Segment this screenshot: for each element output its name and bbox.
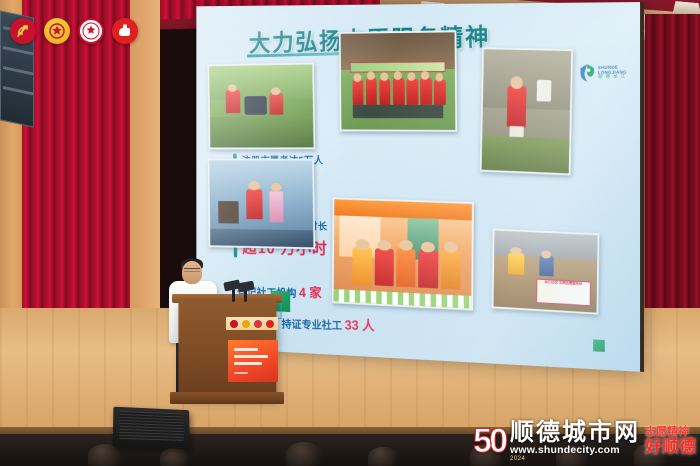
watermark-year: 2024 xyxy=(510,456,640,462)
presenter-glasses xyxy=(184,268,200,272)
hammer-sickle-icon xyxy=(14,22,32,40)
podium-seal-emblem xyxy=(254,320,262,328)
wall-emblem-group xyxy=(10,18,138,44)
photo-volunteer-outdoor-service: 龙江社区 文明志愿服务队 xyxy=(492,229,600,315)
photo-volunteer-booth-blue xyxy=(208,158,316,249)
watermark-badge: 志愿精神 好顺德 xyxy=(645,427,696,456)
podium-cpc-emblem xyxy=(230,320,238,328)
photo-volunteer-booth-orange xyxy=(332,197,474,310)
red-seal-emblem xyxy=(78,18,104,44)
inline-stat-value: 33 人 xyxy=(345,317,375,333)
watermark-url: www.shundecity.com xyxy=(510,445,640,456)
photo-volunteer-wall-painting xyxy=(480,47,573,175)
podium-emblem-strip xyxy=(226,317,278,330)
stage-presentation-photo: 大力弘扬志愿服务精神 SHUNDE LONGJIANG 顺 德 龙 江 志愿服务… xyxy=(0,0,700,466)
watermark: 50 顺德城市网 www.shundecity.com 2024 志愿精神 好顺… xyxy=(473,421,696,462)
podium-cyl-emblem xyxy=(242,320,250,328)
youth-league-star-icon xyxy=(48,22,66,40)
microphone-stem xyxy=(232,288,235,302)
seal-star-icon xyxy=(81,21,101,41)
photo-sign-text: 龙江社区 文明志愿服务队 xyxy=(538,279,590,287)
stage-monitor-speaker xyxy=(113,407,190,449)
shunde-longjiang-logo: SHUNDE LONGJIANG 顺 德 龙 江 xyxy=(579,64,626,83)
communist-youth-league-emblem xyxy=(44,18,70,44)
cpc-emblem xyxy=(10,18,36,44)
logo-glyph-icon xyxy=(579,64,595,82)
podium-base xyxy=(170,392,284,404)
podium-volunteer-emblem xyxy=(266,320,274,328)
logo-chinese: 顺 德 龙 江 xyxy=(598,75,627,80)
photo-volunteers-cleanup-green xyxy=(207,63,315,150)
watermark-mark: 50 xyxy=(473,427,505,456)
podium-banner xyxy=(228,340,278,382)
presenter-head xyxy=(182,261,202,284)
volunteer-heart-hand-emblem xyxy=(112,18,138,44)
decor-green-square xyxy=(593,339,605,352)
heart-hand-icon xyxy=(116,22,134,40)
inline-stat-1: 持证专业社工 33 人 xyxy=(281,314,374,335)
inline-stat-label: 持证专业社工 xyxy=(281,319,342,332)
watermark-site-name: 顺德城市网 xyxy=(510,421,640,445)
inline-stat-value: 4 家 xyxy=(299,285,322,301)
photo-volunteer-team-group xyxy=(339,30,457,132)
watermark-badge-line2: 好顺德 xyxy=(645,438,696,456)
